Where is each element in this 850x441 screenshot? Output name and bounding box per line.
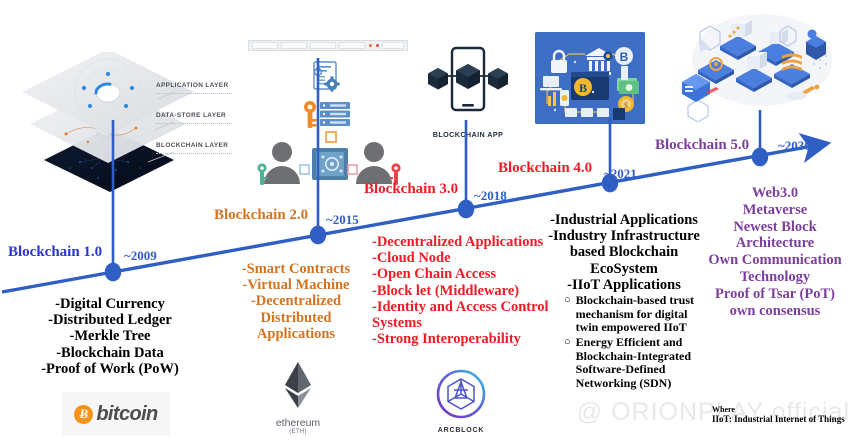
bullet-item: -Proof of Work (PoW) [10, 361, 210, 377]
bullet-item: -Industrial Applications [540, 212, 708, 228]
era-bullets-blockchain-5: Web3.0 Metaverse Newest Block Architectu… [700, 185, 850, 320]
layer-label-application: APPLICATION LAYER [156, 82, 229, 89]
bullet-item: -Industry Infrastructure [540, 228, 708, 244]
era-title-blockchain-4: Blockchain 4.0 [498, 160, 592, 177]
legend-note: Where IIoT: Industrial Internet of Thing… [712, 405, 845, 424]
era-title-blockchain-1: Blockchain 1.0 [8, 244, 102, 261]
layer-label-datastore: DATA-STORE LAYER [156, 112, 226, 119]
bullet-item: -Decentralized Distributed [216, 293, 376, 325]
blockchain-app-illustration: BLOCKCHAIN APP [418, 44, 518, 144]
phone-blocks-svg [418, 44, 518, 128]
bullet-item: Proof of Tsar (PoT) [700, 286, 850, 303]
era-title-blockchain-3: Blockchain 3.0 [364, 181, 458, 198]
era-bullets-blockchain-1: -Digital Currency -Distributed Ledger -M… [10, 296, 210, 377]
bullet-item: -IIoT Applications [540, 277, 708, 293]
era-year-blockchain-4: ~2021 [604, 166, 637, 182]
svg-text:B: B [620, 50, 629, 64]
bullet-item: Own Communication [700, 252, 850, 269]
layered-blockchain-stack-illustration: APPLICATION LAYER DATA-STORE LAYER BLOCK… [8, 52, 238, 222]
sub-bullet-row: ○ Blockchain-based trust mechanism for d… [564, 294, 708, 334]
era-title-blockchain-2: Blockchain 2.0 [214, 207, 308, 224]
arcblock-icon [424, 368, 498, 420]
bullet-item: -Strong Interoperability [372, 331, 562, 347]
ethereum-logo: ethereum (ETH) [258, 360, 338, 438]
diagram-canvas: APPLICATION LAYER DATA-STORE LAYER BLOCK… [0, 0, 850, 441]
era-bullets-blockchain-3: -Decentralized Applications -Cloud Node … [372, 234, 562, 348]
bullet-item: -Block let (Middleware) [372, 283, 562, 299]
iso-svg [676, 2, 842, 122]
bullet-item: -Virtual Machine [216, 277, 376, 293]
layer-label-blockchain: BLOCKCHAIN LAYER [156, 142, 228, 149]
era-subbullets-blockchain-4: ○ Blockchain-based trust mechanism for d… [540, 294, 708, 390]
node-blockchain-3 [458, 200, 474, 219]
arcblock-logo: ARCBLOCK [424, 368, 498, 438]
layer-dots-datastore [156, 123, 232, 124]
era-bullets-blockchain-2: -Smart Contracts -Virtual Machine -Decen… [216, 261, 376, 342]
smart-contract-svg [248, 40, 408, 185]
sub-bullet-text: Blockchain-based trust mechanism for dig… [576, 294, 708, 334]
bullet-item: -Decentralized Applications [372, 234, 562, 250]
bitcoin-logo: Ƀ bitcoin [62, 392, 170, 436]
svg-text:B: B [579, 81, 587, 95]
watermark-diamond-icon [566, 395, 571, 429]
bullet-item: Web3.0 [700, 185, 850, 202]
bullet-item: Technology [700, 269, 850, 286]
sub-bullet-row: ○ Energy Efficient and Blockchain-Integr… [564, 336, 708, 390]
bitcoin-coin-icon: Ƀ [74, 405, 93, 424]
bullet-item: Systems [372, 315, 562, 331]
note-heading: Where [712, 405, 845, 414]
bullet-item: Architecture [700, 235, 850, 252]
smart-contract-illustration [248, 40, 408, 185]
bullet-item: -Cloud Node [372, 250, 562, 266]
era-year-blockchain-3: ~2018 [474, 188, 507, 204]
isometric-blockchain-illustration [676, 2, 842, 122]
arcblock-name: ARCBLOCK [424, 427, 498, 434]
bullet-item: -Distributed Ledger [10, 312, 210, 328]
node-blockchain-5 [752, 148, 768, 167]
era-title-blockchain-5: Blockchain 5.0 [655, 137, 749, 154]
blockchain-fintech-illustration: B B $ [535, 32, 645, 124]
ethereum-ticker: (ETH) [258, 429, 338, 435]
ethereum-diamond-icon [258, 360, 338, 410]
layer-dots-blockchain [156, 153, 232, 154]
bullet-item: -Blockchain Data [10, 345, 210, 361]
blockchain-app-label: BLOCKCHAIN APP [418, 130, 518, 139]
era-year-blockchain-5: ~2030 [778, 138, 811, 154]
era-year-blockchain-2: ~2015 [326, 212, 359, 228]
era-bullets-blockchain-4: -Industrial Applications -Industry Infra… [540, 212, 708, 390]
sub-bullet-text: Energy Efficient and Blockchain-Integrat… [576, 336, 708, 390]
node-blockchain-2 [310, 226, 326, 245]
circle-bullet-icon: ○ [564, 336, 571, 350]
bullet-item: Applications [216, 326, 376, 342]
bullet-item: own consensus [700, 303, 850, 320]
bullet-item: Newest Block [700, 219, 850, 236]
bitcoin-wordmark: bitcoin [96, 403, 157, 426]
era-year-blockchain-1: ~2009 [124, 248, 157, 264]
layer-dots-application [156, 93, 232, 94]
circle-bullet-icon: ○ [564, 294, 571, 308]
bullet-item: -Merkle Tree [10, 328, 210, 344]
fintech-svg: B B $ [535, 32, 645, 124]
bullet-item: -Identity and Access Control [372, 299, 562, 315]
bullet-item: -Digital Currency [10, 296, 210, 312]
bullet-item: Metaverse [700, 202, 850, 219]
ethereum-name: ethereum [258, 417, 338, 429]
bullet-item: -Open Chain Access [372, 266, 562, 282]
bullet-item: -Smart Contracts [216, 261, 376, 277]
node-blockchain-1 [105, 263, 121, 282]
bullet-item: based Blockchain EcoSystem [540, 244, 708, 276]
stack-svg [8, 52, 238, 222]
note-body: IIoT: Industrial Internet of Things [712, 414, 845, 424]
